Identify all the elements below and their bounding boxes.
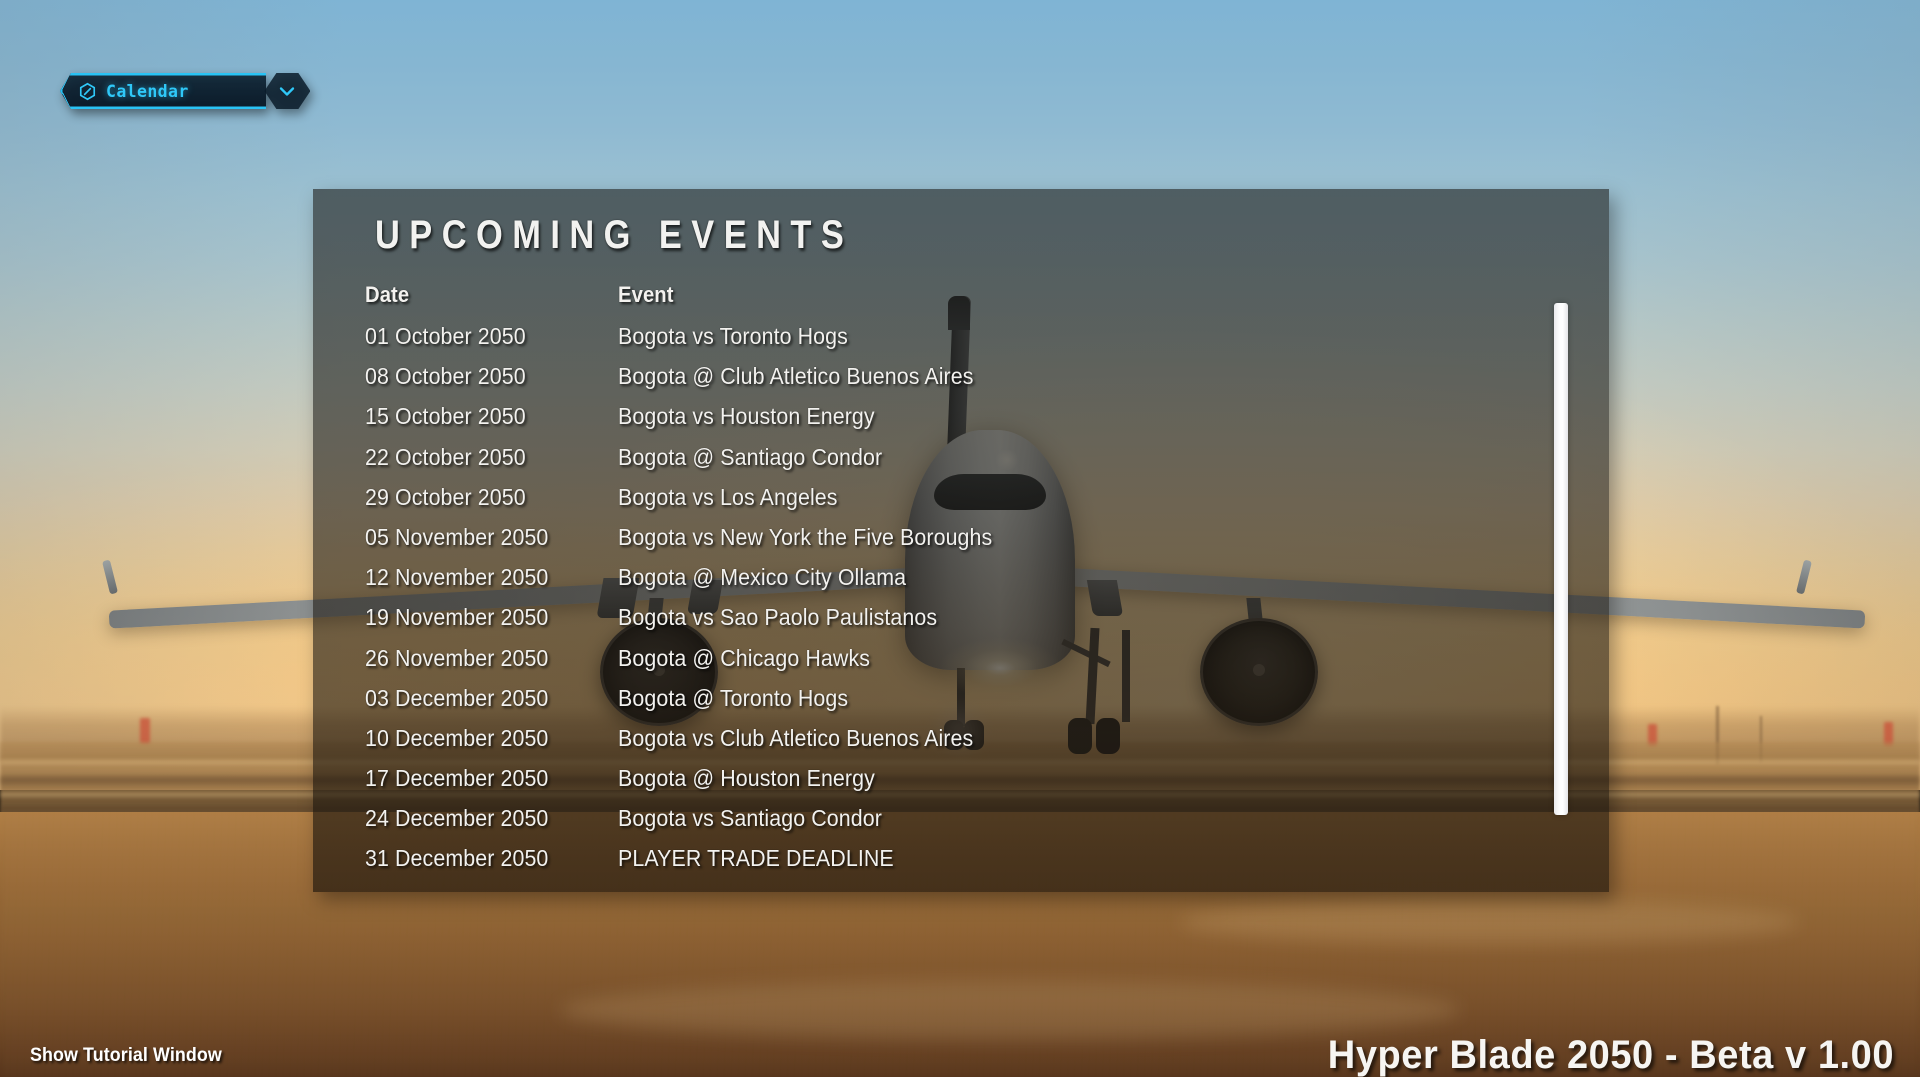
calendar-menu-button[interactable]: Calendar bbox=[60, 73, 310, 109]
cell-event: Bogota vs Toronto Hogs bbox=[618, 323, 848, 350]
table-row[interactable]: 03 December 2050Bogota @ Toronto Hogs bbox=[313, 685, 1609, 725]
cell-date: 29 October 2050 bbox=[365, 484, 526, 511]
cell-date: 08 October 2050 bbox=[365, 363, 526, 390]
field-streak bbox=[1180, 900, 1800, 944]
table-row[interactable]: 31 December 2050PLAYER TRADE DEADLINE bbox=[313, 845, 1609, 885]
field-streak bbox=[560, 980, 1460, 1040]
cell-event: Bogota @ Santiago Condor bbox=[618, 444, 882, 471]
cell-event: Bogota @ Chicago Hawks bbox=[618, 645, 870, 672]
cell-date: 01 October 2050 bbox=[365, 323, 526, 350]
cell-date: 10 December 2050 bbox=[365, 725, 548, 752]
cell-event: Bogota @ Houston Energy bbox=[618, 765, 875, 792]
column-header-date: Date bbox=[365, 282, 409, 308]
table-row[interactable]: 12 November 2050Bogota @ Mexico City Oll… bbox=[313, 564, 1609, 604]
left-winglet bbox=[102, 560, 118, 595]
cell-event: Bogota @ Mexico City Ollama bbox=[618, 564, 906, 591]
cell-event: Bogota vs Santiago Condor bbox=[618, 805, 882, 832]
cell-date: 12 November 2050 bbox=[365, 564, 548, 591]
table-row[interactable]: 26 November 2050Bogota @ Chicago Hawks bbox=[313, 645, 1609, 685]
table-row[interactable]: 10 December 2050Bogota vs Club Atletico … bbox=[313, 725, 1609, 765]
cell-event: Bogota vs Sao Paolo Paulistanos bbox=[618, 604, 937, 631]
right-winglet bbox=[1796, 560, 1812, 595]
calendar-button-body[interactable]: Calendar bbox=[60, 73, 266, 109]
cell-event: PLAYER TRADE DEADLINE bbox=[618, 845, 894, 872]
cell-event: Bogota vs Los Angeles bbox=[618, 484, 838, 511]
table-row[interactable]: 24 December 2050Bogota vs Santiago Condo… bbox=[313, 805, 1609, 845]
chevron-down-icon bbox=[275, 79, 299, 103]
cell-date: 03 December 2050 bbox=[365, 685, 548, 712]
table-row[interactable]: 08 October 2050Bogota @ Club Atletico Bu… bbox=[313, 363, 1609, 403]
cell-event: Bogota @ Club Atletico Buenos Aires bbox=[618, 363, 974, 390]
hexagon-slash-icon bbox=[78, 82, 97, 101]
game-version-label: Hyper Blade 2050 - Beta v 1.00 bbox=[1328, 1033, 1894, 1077]
table-row[interactable]: 19 November 2050Bogota vs Sao Paolo Paul… bbox=[313, 604, 1609, 644]
cell-event: Bogota vs Houston Energy bbox=[618, 403, 875, 430]
table-row[interactable]: 01 October 2050Bogota vs Toronto Hogs bbox=[313, 323, 1609, 363]
page-title: UPCOMING EVENTS bbox=[375, 213, 853, 258]
cell-event: Bogota vs New York the Five Boroughs bbox=[618, 524, 992, 551]
table-row[interactable]: 17 December 2050Bogota @ Houston Energy bbox=[313, 765, 1609, 805]
events-scrollbar-thumb[interactable] bbox=[1554, 303, 1568, 815]
column-header-event: Event bbox=[618, 282, 674, 308]
hud-left-edge bbox=[59, 73, 73, 109]
table-row[interactable]: 22 October 2050Bogota @ Santiago Condor bbox=[313, 444, 1609, 484]
cell-date: 19 November 2050 bbox=[365, 604, 548, 631]
table-row[interactable]: 15 October 2050Bogota vs Houston Energy bbox=[313, 403, 1609, 443]
cell-event: Bogota @ Toronto Hogs bbox=[618, 685, 848, 712]
cell-date: 15 October 2050 bbox=[365, 403, 526, 430]
cell-date: 05 November 2050 bbox=[365, 524, 548, 551]
calendar-button-label: Calendar bbox=[106, 82, 189, 101]
cell-date: 22 October 2050 bbox=[365, 444, 526, 471]
upcoming-events-panel: UPCOMING EVENTS Date Event 01 October 20… bbox=[313, 189, 1609, 892]
cell-date: 24 December 2050 bbox=[365, 805, 548, 832]
cell-date: 31 December 2050 bbox=[365, 845, 548, 872]
cell-date: 26 November 2050 bbox=[365, 645, 548, 672]
table-row[interactable]: 29 October 2050Bogota vs Los Angeles bbox=[313, 484, 1609, 524]
show-tutorial-window-button[interactable]: Show Tutorial Window bbox=[30, 1045, 222, 1067]
events-scrollbar-track[interactable] bbox=[1553, 259, 1569, 819]
calendar-dropdown-toggle[interactable] bbox=[264, 73, 310, 109]
cell-date: 17 December 2050 bbox=[365, 765, 548, 792]
cell-event: Bogota vs Club Atletico Buenos Aires bbox=[618, 725, 973, 752]
table-row[interactable]: 05 November 2050Bogota vs New York the F… bbox=[313, 524, 1609, 564]
events-table-body: 01 October 2050Bogota vs Toronto Hogs08 … bbox=[313, 323, 1609, 886]
